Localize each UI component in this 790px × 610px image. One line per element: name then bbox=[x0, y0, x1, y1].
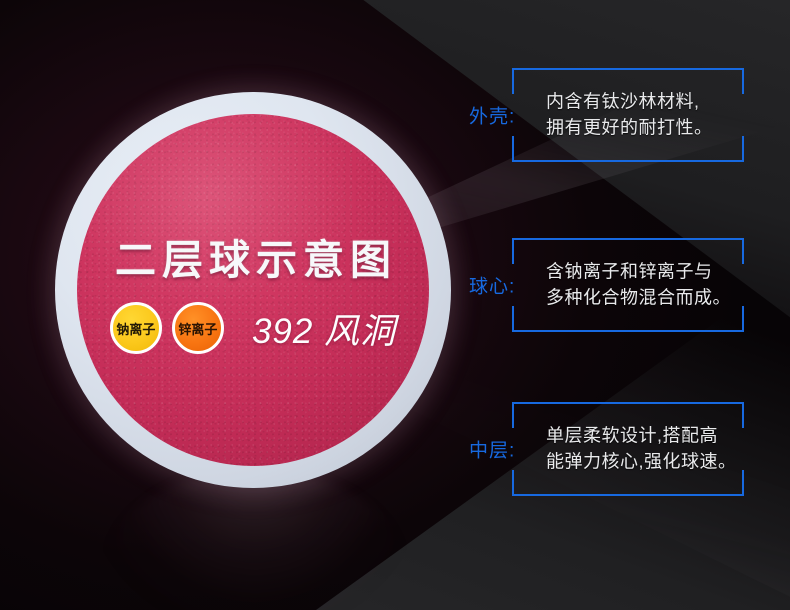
info-text-shell-line-1: 内含有钛沙林材料, bbox=[546, 89, 713, 115]
info-text-core-line-2: 多种化合物混合而成。 bbox=[546, 285, 731, 311]
ball-diagram: 二层球示意图 钠离子 锌离子 392 风洞 bbox=[55, 92, 451, 488]
badge-zinc-ion-label: 锌离子 bbox=[178, 319, 217, 338]
info-text-midlayer-line-2: 能弹力核心,强化球速。 bbox=[546, 449, 737, 475]
info-text-core-line-1: 含钠离子和锌离子与 bbox=[546, 259, 731, 285]
info-label-core: 球心: bbox=[466, 272, 518, 299]
badge-sodium-ion: 钠离子 bbox=[110, 302, 162, 354]
badge-sodium-ion-label: 钠离子 bbox=[116, 319, 155, 338]
ball-model-text: 392 风洞 bbox=[252, 303, 396, 354]
ball-title: 二层球示意图 bbox=[115, 226, 397, 286]
info-row-core: 球心: 含钠离子和锌离子与 多种化合物混合而成。 bbox=[466, 238, 776, 332]
info-text-shell-line-2: 拥有更好的耐打性。 bbox=[546, 115, 713, 141]
info-text-midlayer-line-1: 单层柔软设计,搭配高 bbox=[546, 423, 737, 449]
info-text-core: 含钠离子和锌离子与 多种化合物混合而成。 bbox=[546, 259, 731, 310]
ball-badge-row: 钠离子 锌离子 392 风洞 bbox=[110, 302, 396, 354]
product-infographic: 二层球示意图 钠离子 锌离子 392 风洞 外壳: 内含有钛沙林材料, 拥有更好… bbox=[0, 0, 790, 610]
info-text-shell: 内含有钛沙林材料, 拥有更好的耐打性。 bbox=[546, 89, 713, 140]
info-row-shell: 外壳: 内含有钛沙林材料, 拥有更好的耐打性。 bbox=[466, 68, 776, 162]
info-label-midlayer: 中层: bbox=[466, 436, 518, 463]
info-label-shell: 外壳: bbox=[466, 102, 518, 129]
info-row-midlayer: 中层: 单层柔软设计,搭配高 能弹力核心,强化球速。 bbox=[466, 402, 776, 496]
info-text-midlayer: 单层柔软设计,搭配高 能弹力核心,强化球速。 bbox=[546, 423, 737, 474]
ball-content: 二层球示意图 钠离子 锌离子 392 风洞 bbox=[55, 92, 451, 488]
badge-zinc-ion: 锌离子 bbox=[172, 302, 224, 354]
